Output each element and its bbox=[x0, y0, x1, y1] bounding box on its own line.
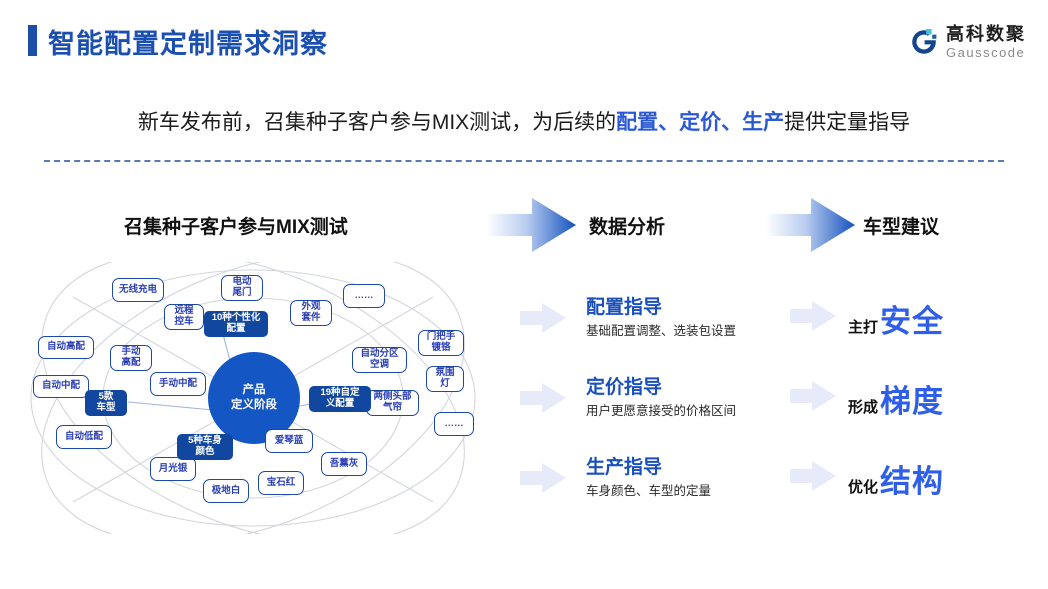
mindmap-leaf-node: 自动分区 空调 bbox=[352, 347, 407, 373]
logo-name-en: Gausscode bbox=[946, 46, 1026, 59]
analysis-row-subtitle: 车身颜色、车型的定量 bbox=[586, 480, 711, 499]
mindmap-leaf-node: 两侧头部 气帘 bbox=[366, 390, 419, 416]
analysis-row-title: 定价指导 bbox=[586, 372, 662, 399]
mindmap-leaf-node: 月光银 bbox=[150, 457, 196, 481]
mindmap-leaf-node: 爱琴蓝 bbox=[265, 429, 313, 453]
suggestion-prefix: 主打 bbox=[848, 316, 878, 337]
gausscode-logo-icon bbox=[909, 27, 939, 57]
analysis-row-subtitle: 基础配置调整、选装包设置 bbox=[586, 320, 736, 339]
mindmap-category-node: 5种车身 颜色 bbox=[177, 434, 233, 460]
mindmap-leaf-node: 自动中配 bbox=[33, 375, 89, 398]
mindmap-leaf-node: 电动 尾门 bbox=[221, 275, 263, 301]
right-arrow-gradient-icon bbox=[486, 196, 578, 254]
suggestion-row: 形成 梯度 bbox=[848, 376, 1028, 426]
subtitle-part1: 新车发布前，召集种子客户参与MIX测试，为后续的 bbox=[138, 111, 616, 134]
suggestion-keyword: 安全 bbox=[880, 296, 944, 341]
mindmap-leaf-node: 远程 控车 bbox=[164, 304, 204, 330]
mindmap-leaf-node: …… bbox=[434, 412, 474, 436]
mindmap-leaf-node: 门把手 镀铬 bbox=[418, 330, 464, 356]
suggestion-keyword: 梯度 bbox=[880, 376, 944, 421]
right-arrow-small-icon bbox=[520, 462, 568, 494]
right-arrow-gradient-icon bbox=[765, 196, 857, 254]
column-head-collect: 召集种子客户参与MIX测试 bbox=[124, 212, 348, 239]
analysis-row-title: 配置指导 bbox=[586, 292, 662, 319]
mindmap-leaf-node: …… bbox=[343, 284, 385, 308]
slide-header: 智能配置定制需求洞察 高科数聚 Gausscode bbox=[0, 0, 1048, 78]
mindmap-leaf-node: 自动高配 bbox=[38, 336, 94, 359]
right-arrow-small-icon bbox=[790, 380, 838, 417]
right-arrow-small-icon bbox=[790, 300, 838, 337]
logo-text: 高科数聚 Gausscode bbox=[946, 25, 1026, 59]
suggestion-keyword: 结构 bbox=[880, 456, 944, 501]
subtitle-highlight: 配置、定价、生产 bbox=[616, 111, 784, 134]
mindmap-leaf-node: 手动 高配 bbox=[110, 345, 152, 371]
section-divider bbox=[44, 160, 1004, 162]
mindmap-leaf-node: 无线充电 bbox=[112, 278, 164, 302]
mindmap-leaf-node: 极地白 bbox=[203, 479, 249, 503]
right-arrow-small-icon bbox=[790, 460, 838, 497]
page-title: 智能配置定制需求洞察 bbox=[48, 22, 328, 61]
brand-logo: 高科数聚 Gausscode bbox=[909, 20, 1026, 64]
logo-name-cn: 高科数聚 bbox=[946, 25, 1026, 43]
slide-root: 智能配置定制需求洞察 高科数聚 Gausscode 新车发布前，召集种子客户参与… bbox=[0, 0, 1048, 589]
mindmap-leaf-node: 氛围 灯 bbox=[426, 366, 464, 392]
analysis-row-title: 生产指导 bbox=[586, 452, 662, 479]
mindmap-leaf-node: 自动低配 bbox=[56, 425, 112, 449]
subtitle-line: 新车发布前，召集种子客户参与MIX测试，为后续的配置、定价、生产提供定量指导 bbox=[0, 106, 1048, 136]
mindmap-category-node: 10种个性化 配置 bbox=[204, 311, 268, 337]
analysis-row-subtitle: 用户更愿意接受的价格区间 bbox=[586, 400, 736, 419]
mindmap-leaf-node: 宝石红 bbox=[258, 471, 304, 495]
mindmap-diagram: 产品 定义阶段 无线充电电动 尾门……远程 控车外观 套件门把手 镀铬自动高配手… bbox=[18, 262, 488, 534]
title-accent-bar bbox=[28, 25, 37, 56]
mindmap-leaf-node: 吾薰灰 bbox=[321, 452, 367, 476]
subtitle-part2: 提供定量指导 bbox=[784, 111, 910, 134]
column-head-analysis: 数据分析 bbox=[589, 212, 665, 239]
mindmap-category-node: 19种自定 义配置 bbox=[309, 386, 371, 412]
right-arrow-small-icon bbox=[520, 302, 568, 334]
mindmap-leaf-node: 外观 套件 bbox=[290, 300, 332, 326]
column-head-suggestion: 车型建议 bbox=[863, 212, 939, 239]
right-arrow-small-icon bbox=[520, 382, 568, 414]
mindmap-leaf-node: 手动中配 bbox=[150, 372, 206, 396]
suggestion-row: 优化 结构 bbox=[848, 456, 1028, 506]
mindmap-category-node: 5款 车型 bbox=[85, 390, 127, 416]
suggestion-prefix: 优化 bbox=[848, 476, 878, 497]
suggestion-prefix: 形成 bbox=[848, 396, 878, 417]
suggestion-row: 主打 安全 bbox=[848, 296, 1028, 346]
